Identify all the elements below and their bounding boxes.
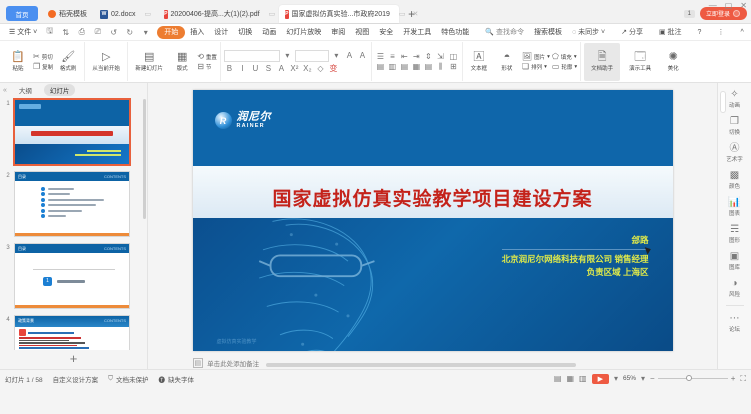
bold-button[interactable]: B [224, 64, 235, 73]
thumb-header-band: 目录 CONTENTS [15, 172, 129, 181]
close-icon[interactable]: ✕ [740, 1, 747, 10]
toolbar-group-tools: 🗎 文档助手 🗔 演示工具 ✺ 美化 [580, 42, 689, 81]
toolbar-group-presentation: ▷ 从当前开始 [84, 42, 127, 81]
rail-item-risk[interactable]: ◑ 风险 [720, 276, 750, 300]
document-tab-word[interactable]: W 02.docx ▭ [94, 5, 157, 23]
rail-item-wordart[interactable]: Ⓐ 艺术字 [720, 141, 750, 165]
paste-button[interactable]: 📋 粘贴 [5, 43, 31, 81]
picture-button[interactable]: 🖼 图片 ▾ [522, 52, 550, 61]
vr-face-graphic [253, 218, 443, 351]
new-slide-label: 新建幻灯片 [135, 64, 163, 72]
font-size-input[interactable] [295, 50, 329, 62]
logo-mark-icon: R [215, 112, 232, 129]
status-bar: 幻灯片 1 / 58 自定义设计方案 ⛉ 文档未保护 🅣 缺失字体 ▤ ▦ ▥ … [0, 369, 751, 387]
rail-item-transition[interactable]: ❐ 切换 [720, 114, 750, 138]
slide-watermark: 虚拟仿真实验教学 [217, 338, 257, 345]
fit-to-window-icon[interactable]: ⛶ [740, 374, 746, 384]
document-tab-title: 国家虚拟仿真实验...市政府2019 [292, 9, 390, 19]
copy-button[interactable]: ❐ 复制 [33, 62, 53, 71]
cloud-sync-icon[interactable]: ⇅ [60, 28, 71, 37]
thumb-bullet [41, 203, 123, 207]
forum-icon: ⋯ [730, 313, 740, 324]
tab-close-icon[interactable]: ▭ [269, 10, 276, 18]
sorter-view-icon[interactable]: ▦ [566, 374, 574, 383]
tab-close-icon[interactable]: ▭ [145, 10, 152, 18]
risk-icon: ◑ [731, 278, 737, 289]
slide-title[interactable]: 国家虚拟仿真实验教学项目建设方案 [193, 184, 673, 211]
paste-label: 粘贴 [12, 64, 23, 72]
thumb-header-right: CONTENTS [104, 246, 126, 251]
align-center-icon[interactable]: ▥ [387, 62, 398, 72]
rail-label: 图库 [729, 263, 740, 271]
doc-assistant-button[interactable]: 🗎 文档助手 [584, 43, 620, 81]
decrease-indent-icon[interactable]: ⇤ [399, 52, 410, 61]
fill-outline-stack: ⬠ 填充 ▾ ▭ 轮廓 ▾ [552, 52, 577, 71]
rail-label: 图形 [729, 236, 740, 244]
superscript-button[interactable]: X² [289, 64, 300, 73]
notes-placeholder: 单击此处添加备注 [207, 358, 259, 368]
minimize-icon[interactable]: — [709, 1, 717, 10]
wordart-icon: Ⓐ [730, 143, 740, 154]
share-label: 分享 [629, 29, 643, 36]
outline-icon: ▭ [552, 62, 560, 71]
ribbon-tab-insert[interactable]: 插入 [185, 24, 209, 41]
comment-button[interactable]: ▣ 批注 [654, 24, 687, 41]
italic-button[interactable]: I [237, 64, 248, 73]
smartart-icon[interactable]: ◫ [448, 52, 459, 61]
editor-body: « 大纲 幻灯片 1 [0, 83, 751, 369]
copy-label: 复制 [42, 63, 53, 71]
strikethrough-button[interactable]: S [263, 64, 274, 73]
section-button[interactable]: ⊟ 节 [197, 62, 217, 71]
thumb-section-number: 1 [43, 277, 52, 286]
shrink-font-icon[interactable]: A [357, 51, 368, 60]
ribbon-tab-features[interactable]: 特色功能 [436, 24, 474, 41]
arrange-button[interactable]: ❏ 排列 ▾ [522, 62, 550, 71]
beautify-label: 美化 [668, 64, 679, 72]
print-icon[interactable]: ⎙ [76, 27, 87, 37]
cut-copy-stack: ✂ 剪切 ❐ 复制 [33, 52, 53, 71]
fill-icon: ⬠ [552, 52, 559, 61]
numbering-icon[interactable]: ≡ [387, 52, 398, 61]
rail-drag-handle[interactable] [720, 91, 726, 113]
picture-dropdown-icon[interactable]: ▾ [547, 54, 550, 60]
slide-thumbnail-4[interactable]: 政策背景 CONTENTS [14, 315, 130, 350]
rail-item-forum[interactable]: ⋯ 论坛 [720, 311, 750, 335]
highlight-color-button[interactable]: 变 [328, 63, 339, 74]
font-size-dropdown-icon[interactable]: ▾ [331, 51, 342, 60]
format-painter-button[interactable]: 🖌 格式刷 [55, 43, 81, 81]
ribbon-tab-review[interactable]: 审阅 [326, 24, 350, 41]
thumb-body [15, 327, 129, 350]
avatar-icon [733, 10, 740, 17]
document-tab-title: 02.docx [111, 11, 136, 18]
cut-button[interactable]: ✂ 剪切 [33, 52, 53, 61]
login-label: 立即登录 [706, 9, 730, 18]
ppt-icon: P [285, 10, 288, 19]
thumb-title-text [31, 131, 113, 136]
zoom-in-button[interactable]: + [731, 374, 736, 383]
paragraph-controls: ☰ ≡ ⇤ ⇥ ⇕ ⇲ ▤ ▥ ▤ ▦ ▤ ⫼ [375, 52, 446, 72]
line-spacing-icon[interactable]: ⇕ [423, 52, 434, 61]
command-search-label: 查找命令 [496, 24, 524, 41]
zoom-out-button[interactable]: − [650, 374, 655, 383]
slide-lower-band: 郐路 北京润尼尔网络科技有限公司 销售经理 负责区域 上海区 虚拟仿真实验教学 [193, 218, 673, 351]
format-painter-icon: 🖌 [61, 51, 75, 63]
design-scheme-status[interactable]: 自定义设计方案 [53, 374, 99, 384]
file-menu-label: 文件 [17, 29, 31, 36]
justify-icon[interactable]: ▦ [411, 62, 422, 72]
redo-icon[interactable]: ↻ [124, 28, 135, 37]
toolbar-group-font: ▾ ▾ A A B I U S A X² X₂ ◇ 变 [220, 42, 371, 81]
picture-icon: 🖼 [522, 52, 532, 61]
toolbar-group-clipboard: 📋 粘贴 ✂ 剪切 ❐ 复制 🖌 格式刷 [2, 42, 84, 81]
slide-thumbnail-2[interactable]: 目录 CONTENTS [14, 171, 130, 237]
slide-count-status[interactable]: 幻灯片 1 / 58 [5, 374, 43, 384]
rail-label: 风险 [729, 290, 740, 298]
shape-style-icon: ☴ [730, 224, 739, 235]
comment-label: 批注 [668, 29, 682, 36]
align-left-icon[interactable]: ▤ [375, 62, 386, 72]
add-slide-button[interactable]: + [0, 350, 147, 369]
protection-label: 文档未保护 [116, 374, 149, 384]
reset-section-stack: ⟲ 重置 ⊟ 节 [197, 52, 217, 71]
cut-label: 剪切 [42, 53, 53, 61]
columns-icon[interactable]: ⫼ [435, 62, 446, 72]
docer-template-tab[interactable]: 稻壳模板 [42, 5, 93, 23]
docer-icon [48, 10, 56, 18]
more-options-icon[interactable]: ⋮ [712, 24, 729, 41]
format-painter-label: 格式刷 [60, 64, 77, 72]
document-tab-ppt-active[interactable]: P 国家虚拟仿真实验...市政府2019 ▭ ✕ [279, 5, 399, 23]
ribbon-tab-strip: ☰ 文件 ˅ 🖫 ⇅ ⎙ ⎚ ↺ ↻ ▾ 开始 插入 设计 切换 动画 幻灯片放… [0, 24, 751, 41]
toolbar-group-paragraph: ☰ ≡ ⇤ ⇥ ⇕ ⇲ ▤ ▥ ▤ ▦ ▤ ⫼ ◫ [371, 42, 462, 81]
beautify-icon: ✺ [669, 51, 678, 63]
fill-dropdown-icon[interactable]: ▾ [574, 54, 577, 60]
document-tab-title: 20200406-提高...大(1)(2).pdf [171, 9, 260, 19]
share-button[interactable]: ↗ 分享 [616, 24, 648, 41]
ribbon-tab-view[interactable]: 视图 [350, 24, 374, 41]
collapse-panel-icon[interactable]: « [3, 87, 7, 94]
arrange-dropdown-icon[interactable]: ▾ [544, 64, 547, 70]
status-right-cluster: ▤ ▦ ▥ ▶ ▾ 65% ▾ − + ⛶ [554, 374, 746, 384]
smartart-row: ◫ [448, 52, 459, 61]
thumb-body [15, 181, 129, 233]
section-label: 节 [206, 63, 212, 71]
thumbnail-row-1[interactable]: 1 [0, 99, 147, 165]
shapes-label: 形状 [501, 64, 512, 72]
ribbon-tab-developer[interactable]: 开发工具 [398, 24, 436, 41]
align-text-row: ⊞ [448, 62, 459, 71]
rail-label: 动画 [729, 101, 740, 109]
text-effect-button[interactable]: A [276, 64, 287, 73]
thumb-footer-band [15, 305, 129, 308]
horizontal-scrollbar[interactable] [266, 363, 576, 367]
thumb-body: 1 [15, 253, 129, 305]
maximize-icon[interactable]: ▢ [725, 1, 733, 10]
tab-count-badge[interactable]: 1 [684, 10, 695, 18]
present-tools-icon: 🗔 [634, 51, 646, 63]
copy-icon: ❐ [33, 62, 40, 71]
thumb-footer-band [15, 233, 129, 236]
thumbnail-row-4[interactable]: 4 政策背景 CONTENTS [0, 315, 147, 350]
thumb-header-band: 目录 CONTENTS [15, 244, 129, 253]
new-slide-icon: ▤ [144, 51, 154, 63]
document-tab-bar: 首页 稻壳模板 W 02.docx ▭ P 20200406-提高...大(1)… [0, 0, 751, 24]
fill-label: 填充 [561, 53, 572, 61]
zoom-knob[interactable] [686, 375, 692, 381]
slide-logo: R 润尼尔 RAINER [215, 112, 272, 130]
thumb-header-band: 政策背景 CONTENTS [15, 316, 129, 327]
ribbon-toolbar-start: 📋 粘贴 ✂ 剪切 ❐ 复制 🖌 格式刷 ▷ 从当前开始 [0, 41, 751, 83]
textbox-icon: 🄰 [473, 51, 484, 63]
arrange-label: 排列 [531, 63, 542, 71]
slide-editor-area: R 润尼尔 RAINER 国家虚拟仿真实验教学项目建设方案 [148, 83, 717, 369]
reset-button[interactable]: ⟲ 重置 [197, 52, 217, 61]
rail-item-gallery[interactable]: ▣ 图库 [720, 249, 750, 273]
thumb-bullet [41, 192, 123, 196]
zoom-track[interactable] [658, 378, 728, 379]
reading-view-icon[interactable]: ▥ [579, 374, 587, 383]
missing-fonts-status[interactable]: 🅣 缺失字体 [158, 374, 194, 384]
outline-dropdown-icon[interactable]: ▾ [574, 64, 577, 70]
rail-label: 艺术字 [726, 155, 743, 163]
font-row-bottom: B I U S A X² X₂ ◇ 变 [224, 63, 368, 74]
font-name-input[interactable] [224, 50, 280, 62]
ribbon-tab-design[interactable]: 设计 [209, 24, 233, 41]
rail-label: 切换 [729, 128, 740, 136]
protection-status[interactable]: ⛉ 文档未保护 [108, 374, 148, 384]
file-menu-button[interactable]: ☰ 文件 ˅ [4, 24, 42, 41]
rail-label: 颜色 [729, 182, 740, 190]
slide-thumbnail-panel: « 大纲 幻灯片 1 [0, 83, 148, 369]
textbox-button[interactable]: 🄰 文本框 [466, 43, 492, 81]
missing-fonts-label: 缺失字体 [168, 374, 194, 384]
document-tab-pdf[interactable]: P 20200406-提高...大(1)(2).pdf ▭ [158, 5, 278, 23]
play-icon: ▷ [102, 51, 110, 63]
paragraph-row-top: ☰ ≡ ⇤ ⇥ ⇕ ⇲ [375, 52, 446, 61]
reset-label: 重置 [206, 53, 217, 61]
sync-status-label: 未同步 [578, 29, 599, 36]
color-icon: ▩ [730, 170, 739, 181]
layout-button[interactable]: ▦ 版式 [169, 43, 195, 81]
picture-label: 图片 [534, 53, 545, 61]
font-controls: ▾ ▾ A A B I U S A X² X₂ ◇ 变 [224, 50, 368, 74]
reset-icon: ⟲ [197, 52, 204, 61]
new-slide-button[interactable]: ▤ 新建幻灯片 [131, 43, 167, 81]
slide-number: 1 [2, 99, 14, 107]
presenter-region: 负责区域 上海区 [502, 266, 649, 279]
thumb-line-1 [87, 150, 121, 152]
ribbon-tab-animation[interactable]: 动画 [257, 24, 281, 41]
grow-font-icon[interactable]: A [344, 51, 355, 60]
slide-number: 3 [2, 243, 14, 251]
customize-qat-icon[interactable]: ▾ [140, 28, 151, 37]
present-tools-button[interactable]: 🗔 演示工具 [622, 43, 658, 81]
slide-number: 2 [2, 171, 14, 179]
chart-icon: 📊 [728, 197, 740, 208]
word-icon: W [100, 10, 108, 19]
ribbon-tab-security[interactable]: 安全 [374, 24, 398, 41]
subscript-button[interactable]: X₂ [302, 64, 313, 73]
layout-icon: ▦ [177, 51, 187, 63]
command-search[interactable]: 🔍 查找命令 [480, 24, 529, 41]
slide-number: 4 [2, 315, 14, 323]
animation-icon: ✧ [730, 89, 738, 100]
collapse-ribbon-icon[interactable]: ^ [735, 24, 748, 41]
distribute-icon[interactable]: ▤ [423, 62, 434, 72]
print-preview-icon[interactable]: ⎚ [92, 27, 103, 37]
thumb-logo [19, 104, 41, 109]
bullets-icon[interactable]: ☰ [375, 52, 386, 61]
shapes-button[interactable]: ◓ 形状 [494, 43, 520, 81]
thumb-header-left: 目录 [18, 246, 26, 252]
rail-item-shape-style[interactable]: ☴ 图形 [720, 222, 750, 246]
cut-icon: ✂ [33, 52, 40, 61]
outline-label: 轮廓 [561, 63, 572, 71]
logo-chinese: 润尼尔 [237, 112, 272, 123]
thumbnail-row-3[interactable]: 3 目录 CONTENTS 1 [0, 243, 147, 309]
thumb-line-2 [75, 154, 121, 156]
logo-text: 润尼尔 RAINER [237, 112, 272, 130]
textbox-label: 文本框 [471, 64, 488, 72]
beautify-button[interactable]: ✺ 美化 [660, 43, 686, 81]
layout-label: 版式 [177, 64, 188, 72]
paste-icon: 📋 [11, 51, 25, 63]
slideshow-play-button[interactable]: ▶ [592, 374, 609, 384]
fill-button[interactable]: ⬠ 填充 ▾ [552, 52, 577, 61]
present-tools-label: 演示工具 [629, 64, 651, 72]
thumb-header-right: CONTENTS [104, 174, 126, 179]
thumb-header-right: CONTENTS [104, 318, 126, 323]
window-controls: — ▢ ✕ [709, 1, 747, 10]
ribbon-tab-slideshow[interactable]: 幻灯片放映 [281, 24, 326, 41]
template-search-link[interactable]: 搜索模板 [529, 24, 567, 41]
rail-item-color[interactable]: ▩ 颜色 [720, 168, 750, 192]
tab-restore-icon[interactable]: ▭ [399, 10, 406, 18]
undo-icon[interactable]: ↺ [108, 28, 119, 37]
home-tab-label: 首页 [16, 9, 29, 19]
sync-status-button[interactable]: ◌ 未同步 ˅ [567, 24, 610, 41]
paragraph-extra: ◫ ⊞ [448, 52, 459, 71]
clear-format-button[interactable]: ◇ [315, 64, 326, 73]
thumb-header-left: 政策背景 [18, 318, 34, 324]
slide-thumbnail-list[interactable]: 1 2 [0, 97, 147, 350]
transition-icon: ❐ [730, 116, 739, 127]
rail-label: 论坛 [729, 325, 740, 333]
underline-button[interactable]: U [250, 64, 261, 73]
help-icon[interactable]: ? [693, 24, 707, 41]
current-slide-canvas[interactable]: R 润尼尔 RAINER 国家虚拟仿真实验教学项目建设方案 [193, 90, 673, 351]
doc-assistant-icon: 🗎 [598, 51, 607, 63]
thumb-bullet [41, 198, 123, 202]
font-icon: 🅣 [158, 374, 165, 384]
start-from-current-label: 从当前开始 [92, 64, 120, 72]
quick-access-toolbar: 🖫 ⇅ ⎙ ⎚ ↺ ↻ ▾ [42, 25, 157, 39]
shapes-icon: ◓ [504, 51, 511, 63]
font-row-top: ▾ ▾ A A [224, 50, 368, 62]
zoom-level-label[interactable]: 65% [623, 375, 636, 382]
start-from-current-button[interactable]: ▷ 从当前开始 [88, 43, 124, 81]
tab-slides[interactable]: 幻灯片 [44, 84, 76, 96]
text-direction-icon[interactable]: ⇲ [435, 52, 446, 61]
toolbar-group-slides: ▤ 新建幻灯片 ▦ 版式 ⟲ 重置 ⊟ 节 [127, 42, 220, 81]
slide-thumbnail-1[interactable] [14, 99, 130, 165]
wps-presentation-window: 首页 稻壳模板 W 02.docx ▭ P 20200406-提高...大(1)… [0, 0, 751, 414]
presenter-info[interactable]: 郐路 北京润尼尔网络科技有限公司 销售经理 负责区域 上海区 [502, 234, 649, 278]
presenter-company: 北京润尼尔网络科技有限公司 销售经理 [502, 253, 649, 266]
align-text-icon[interactable]: ⊞ [448, 62, 459, 71]
arrange-icon: ❏ [522, 62, 529, 71]
font-name-dropdown-icon[interactable]: ▾ [282, 51, 293, 60]
normal-view-icon[interactable]: ▤ [554, 374, 562, 383]
toolbar-group-drawing: 🄰 文本框 ◓ 形状 🖼 图片 ▾ ❏ 排列 ▾ [462, 42, 580, 81]
zoom-slider[interactable]: − + [650, 374, 735, 383]
picture-arrange-stack: 🖼 图片 ▾ ❏ 排列 ▾ [522, 52, 550, 71]
thumb-bullet [41, 214, 123, 218]
tab-close-icon[interactable]: ✕ [413, 10, 419, 18]
home-tab[interactable]: 首页 [6, 6, 38, 21]
logo-english: RAINER [237, 124, 272, 130]
thumb-bullet [41, 209, 123, 213]
increase-indent-icon[interactable]: ⇥ [411, 52, 422, 61]
thumb-bullet [41, 187, 123, 191]
thumbnail-row-2[interactable]: 2 目录 CONTENTS [0, 171, 147, 237]
section-icon: ⊟ [197, 62, 204, 71]
paragraph-row-bottom: ▤ ▥ ▤ ▦ ▤ ⫼ [375, 62, 446, 72]
presenter-divider [502, 249, 649, 250]
rail-divider [726, 305, 744, 306]
rail-label: 图表 [729, 209, 740, 217]
shield-icon: ⛉ [108, 375, 113, 383]
slide-panel-header: « 大纲 幻灯片 [0, 83, 147, 97]
slide-thumbnail-3[interactable]: 目录 CONTENTS 1 [14, 243, 130, 309]
thumb-header-left: 目录 [18, 174, 26, 180]
rail-item-chart[interactable]: 📊 图表 [720, 195, 750, 219]
outline-button[interactable]: ▭ 轮廓 ▾ [552, 62, 577, 71]
pdf-icon: P [164, 10, 167, 19]
save-icon[interactable]: 🖫 [44, 25, 55, 39]
ribbon-tab-transition[interactable]: 切换 [233, 24, 257, 41]
thumbnail-scrollbar[interactable] [143, 99, 146, 219]
align-right-icon[interactable]: ▤ [399, 62, 410, 72]
tab-outline[interactable]: 大纲 [13, 84, 38, 96]
gallery-icon: ▣ [730, 251, 739, 262]
doc-assistant-label: 文档助手 [591, 64, 613, 72]
ribbon-right-cluster: ◌ 未同步 ˅ ↗ 分享 ▣ 批注 ? ⋮ ^ [567, 24, 751, 41]
slideshow-dropdown-icon[interactable]: ▾ [614, 374, 618, 383]
docer-tab-label: 稻壳模板 [59, 9, 87, 19]
notes-icon: ▤ [193, 358, 204, 368]
right-task-rail: ✧ 动画 ❐ 切换 Ⓐ 艺术字 ▩ 颜色 📊 图表 ☴ 图形 [717, 83, 751, 369]
zoom-dropdown-icon[interactable]: ▾ [641, 374, 645, 383]
ribbon-tab-start[interactable]: 开始 [157, 26, 185, 39]
presenter-name: 郐路 [502, 234, 649, 247]
